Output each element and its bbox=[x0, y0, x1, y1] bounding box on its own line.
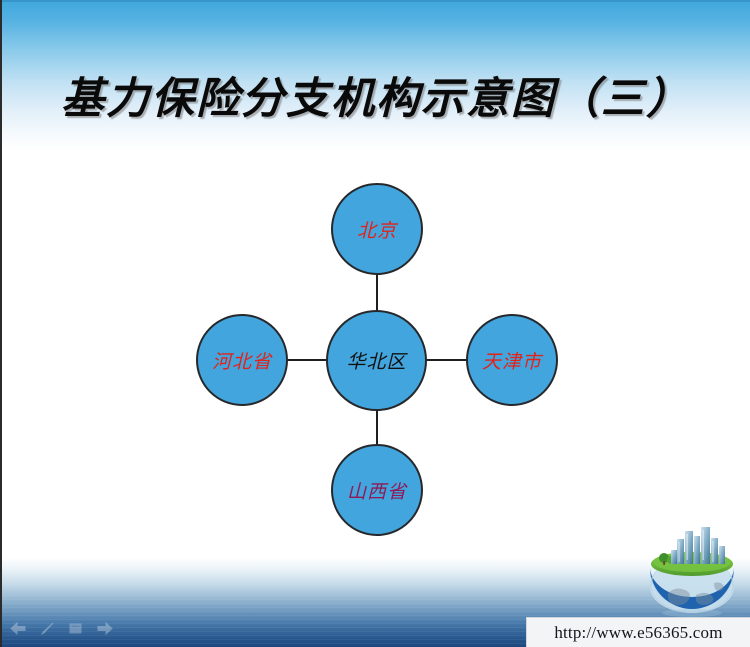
diagram-node-label: 华北区 bbox=[346, 347, 406, 374]
diagram-node-tianjin[interactable]: 天津市 bbox=[466, 314, 558, 406]
slideshow-navigation-bar[interactable] bbox=[10, 622, 113, 635]
website-url-watermark: http://www.e56365.com bbox=[526, 617, 750, 647]
sky-top-accent-line bbox=[2, 0, 750, 2]
diagram-node-hebei[interactable]: 河北省 bbox=[196, 314, 288, 406]
earth-city-globe-icon bbox=[640, 523, 744, 619]
forward-arrow-icon[interactable] bbox=[96, 622, 113, 635]
presentation-slide: 基力保险分支机构示意图（三） 北京 河北省 华北区 天津市 山西省 bbox=[0, 0, 750, 647]
org-structure-diagram: 北京 河北省 华北区 天津市 山西省 bbox=[2, 150, 750, 550]
website-url-text: http://www.e56365.com bbox=[554, 623, 722, 643]
diagram-node-beijing[interactable]: 北京 bbox=[331, 183, 423, 275]
diagram-node-label: 北京 bbox=[357, 216, 397, 243]
diagram-node-shanxi[interactable]: 山西省 bbox=[331, 444, 423, 536]
connector-center-to-left bbox=[286, 359, 328, 361]
slide-title: 基力保险分支机构示意图（三） bbox=[2, 64, 750, 126]
page-icon[interactable] bbox=[68, 622, 83, 635]
diagram-node-label: 山西省 bbox=[347, 477, 407, 504]
diagram-node-label: 天津市 bbox=[482, 347, 542, 374]
diagram-node-huabei-region[interactable]: 华北区 bbox=[326, 310, 427, 411]
connector-center-to-right bbox=[426, 359, 468, 361]
diagram-node-label: 河北省 bbox=[212, 347, 272, 374]
pen-icon[interactable] bbox=[40, 622, 55, 635]
back-arrow-icon[interactable] bbox=[10, 622, 27, 635]
